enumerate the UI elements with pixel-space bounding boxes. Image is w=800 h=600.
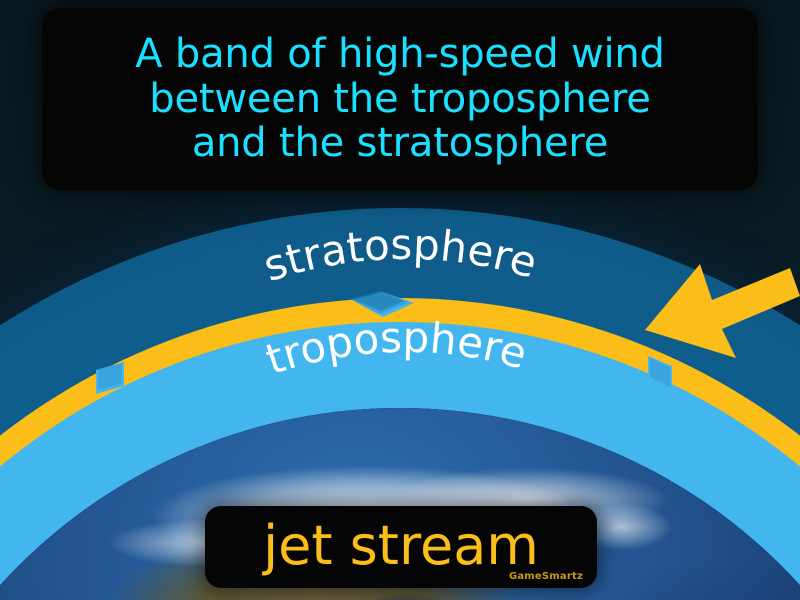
term-label: jet stream [263, 519, 539, 573]
definition-text: A band of high-speed wind between the tr… [125, 32, 674, 166]
definition-card: stratosphere troposphere A band of high-… [0, 0, 800, 600]
term-box: jet stream GameSmartz [205, 506, 597, 588]
watermark-label: GameSmartz [509, 571, 583, 582]
definition-box: A band of high-speed wind between the tr… [42, 8, 758, 190]
